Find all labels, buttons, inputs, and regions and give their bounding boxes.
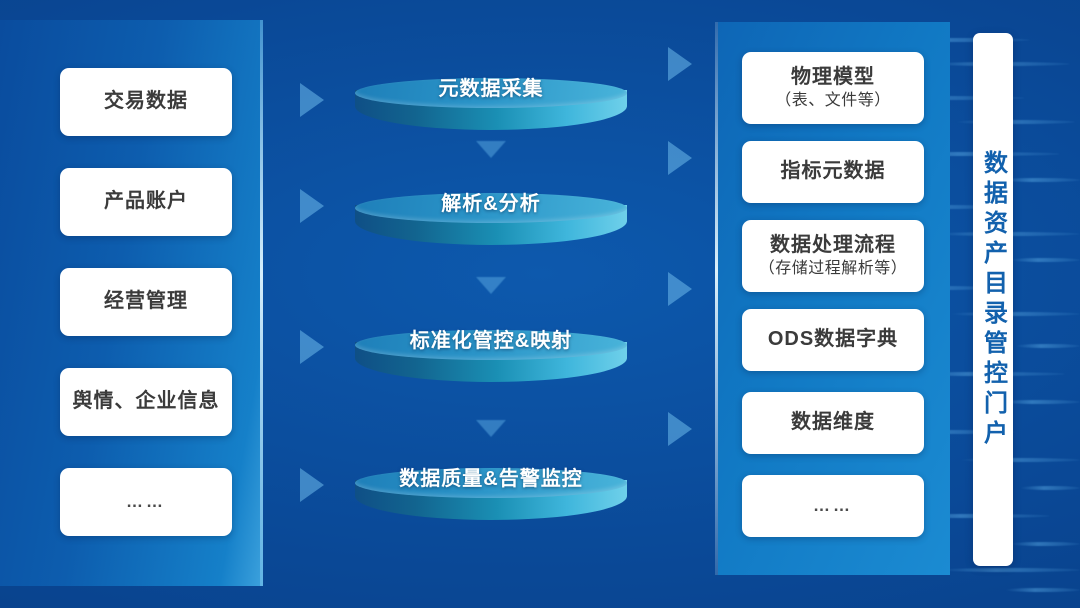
asset-label-primary: 数据维度: [791, 410, 875, 436]
arrow-right-icon: [300, 330, 324, 364]
source-label: 舆情、企业信息: [73, 389, 220, 415]
list-item[interactable]: 物理模型 （表、文件等）: [742, 52, 924, 124]
asset-label-primary: 数据处理流程: [770, 233, 896, 259]
arrow-down-icon: [476, 420, 506, 437]
arrow-right-icon: [668, 47, 692, 81]
source-label: 经营管理: [104, 289, 188, 315]
arrow-down-icon: [476, 277, 506, 294]
source-label: 交易数据: [104, 89, 188, 115]
source-label: ……: [126, 491, 166, 513]
process-stage-label: 标准化管控&映射: [355, 324, 627, 353]
asset-label-primary: 指标元数据: [781, 159, 886, 185]
arrow-right-icon: [300, 189, 324, 223]
list-item[interactable]: 产品账户: [60, 168, 232, 236]
list-item[interactable]: 经营管理: [60, 268, 232, 336]
arrow-right-icon: [300, 468, 324, 502]
asset-label-secondary: （存储过程解析等）: [759, 259, 908, 279]
list-item[interactable]: 舆情、企业信息: [60, 368, 232, 436]
portal-bar-label: 数据资产目录管控门户: [976, 150, 1011, 450]
list-item-ellipsis[interactable]: ……: [742, 475, 924, 537]
source-label: 产品账户: [104, 189, 188, 215]
diagram-canvas: 交易数据 产品账户 经营管理 舆情、企业信息 …… 元数据采集 解析&分析 标准…: [0, 0, 1080, 608]
asset-label-primary: 物理模型: [791, 65, 875, 91]
asset-label-primary: ODS数据字典: [768, 327, 898, 353]
list-item[interactable]: 数据维度: [742, 392, 924, 454]
arrow-right-icon: [668, 272, 692, 306]
process-stage-label: 元数据采集: [355, 72, 627, 101]
arrow-down-icon: [476, 141, 506, 158]
arrow-right-icon: [300, 83, 324, 117]
arrow-right-icon: [668, 412, 692, 446]
list-item[interactable]: ODS数据字典: [742, 309, 924, 371]
list-item[interactable]: 数据处理流程 （存储过程解析等）: [742, 220, 924, 292]
process-stage-label: 解析&分析: [355, 187, 627, 216]
process-stage-label: 数据质量&告警监控: [355, 462, 627, 491]
list-item[interactable]: 交易数据: [60, 68, 232, 136]
arrow-right-icon: [668, 141, 692, 175]
asset-label-primary: ……: [813, 495, 853, 517]
list-item[interactable]: 指标元数据: [742, 141, 924, 203]
portal-bar[interactable]: 数据资产目录管控门户: [973, 33, 1013, 566]
asset-label-secondary: （表、文件等）: [775, 91, 891, 111]
list-item-ellipsis[interactable]: ……: [60, 468, 232, 536]
